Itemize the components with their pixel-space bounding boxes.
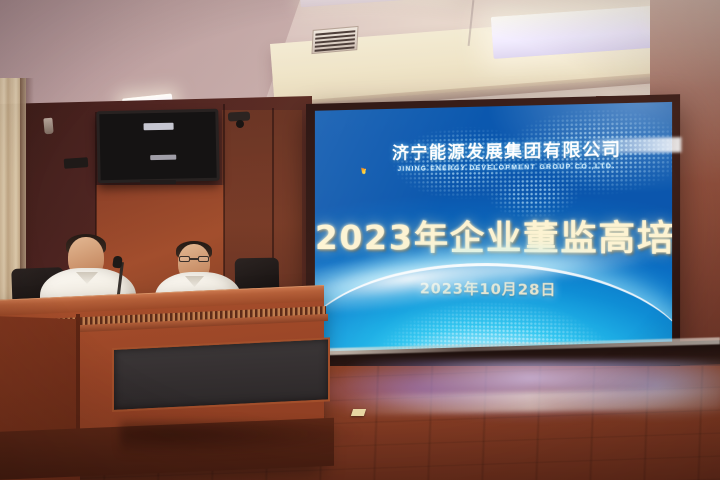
eyeglasses-icon	[179, 256, 209, 262]
microphone-icon	[112, 255, 123, 268]
display-wall-mount	[64, 157, 89, 169]
podium-floor-shadow	[120, 420, 360, 456]
led-screen-frame: 济宁能源发展集团有限公司 JINING ENERGY DEVELOPMENT G…	[306, 94, 680, 373]
display-reflection	[144, 123, 174, 131]
jining-energy-arc-logo-icon	[360, 146, 385, 172]
podium-front-panel	[112, 337, 330, 412]
screen-specular-reflection	[591, 137, 681, 153]
camera-lens-icon	[236, 120, 244, 128]
wall-mounted-display	[96, 109, 219, 184]
wall-speaker-icon	[43, 118, 53, 135]
conference-room-photo: 济宁能源发展集团有限公司 JINING ENERGY DEVELOPMENT G…	[0, 0, 720, 480]
display-reflection	[150, 155, 176, 161]
ceiling-air-vent-icon	[311, 26, 358, 54]
brand-name-cn: 济宁能源发展集团有限公司	[392, 140, 622, 163]
brand-name-en: JINING ENERGY DEVELOPMENT GROUP CO.,LTD.	[392, 163, 622, 173]
display-lower-trim	[140, 180, 176, 184]
wall-seam	[223, 104, 225, 304]
